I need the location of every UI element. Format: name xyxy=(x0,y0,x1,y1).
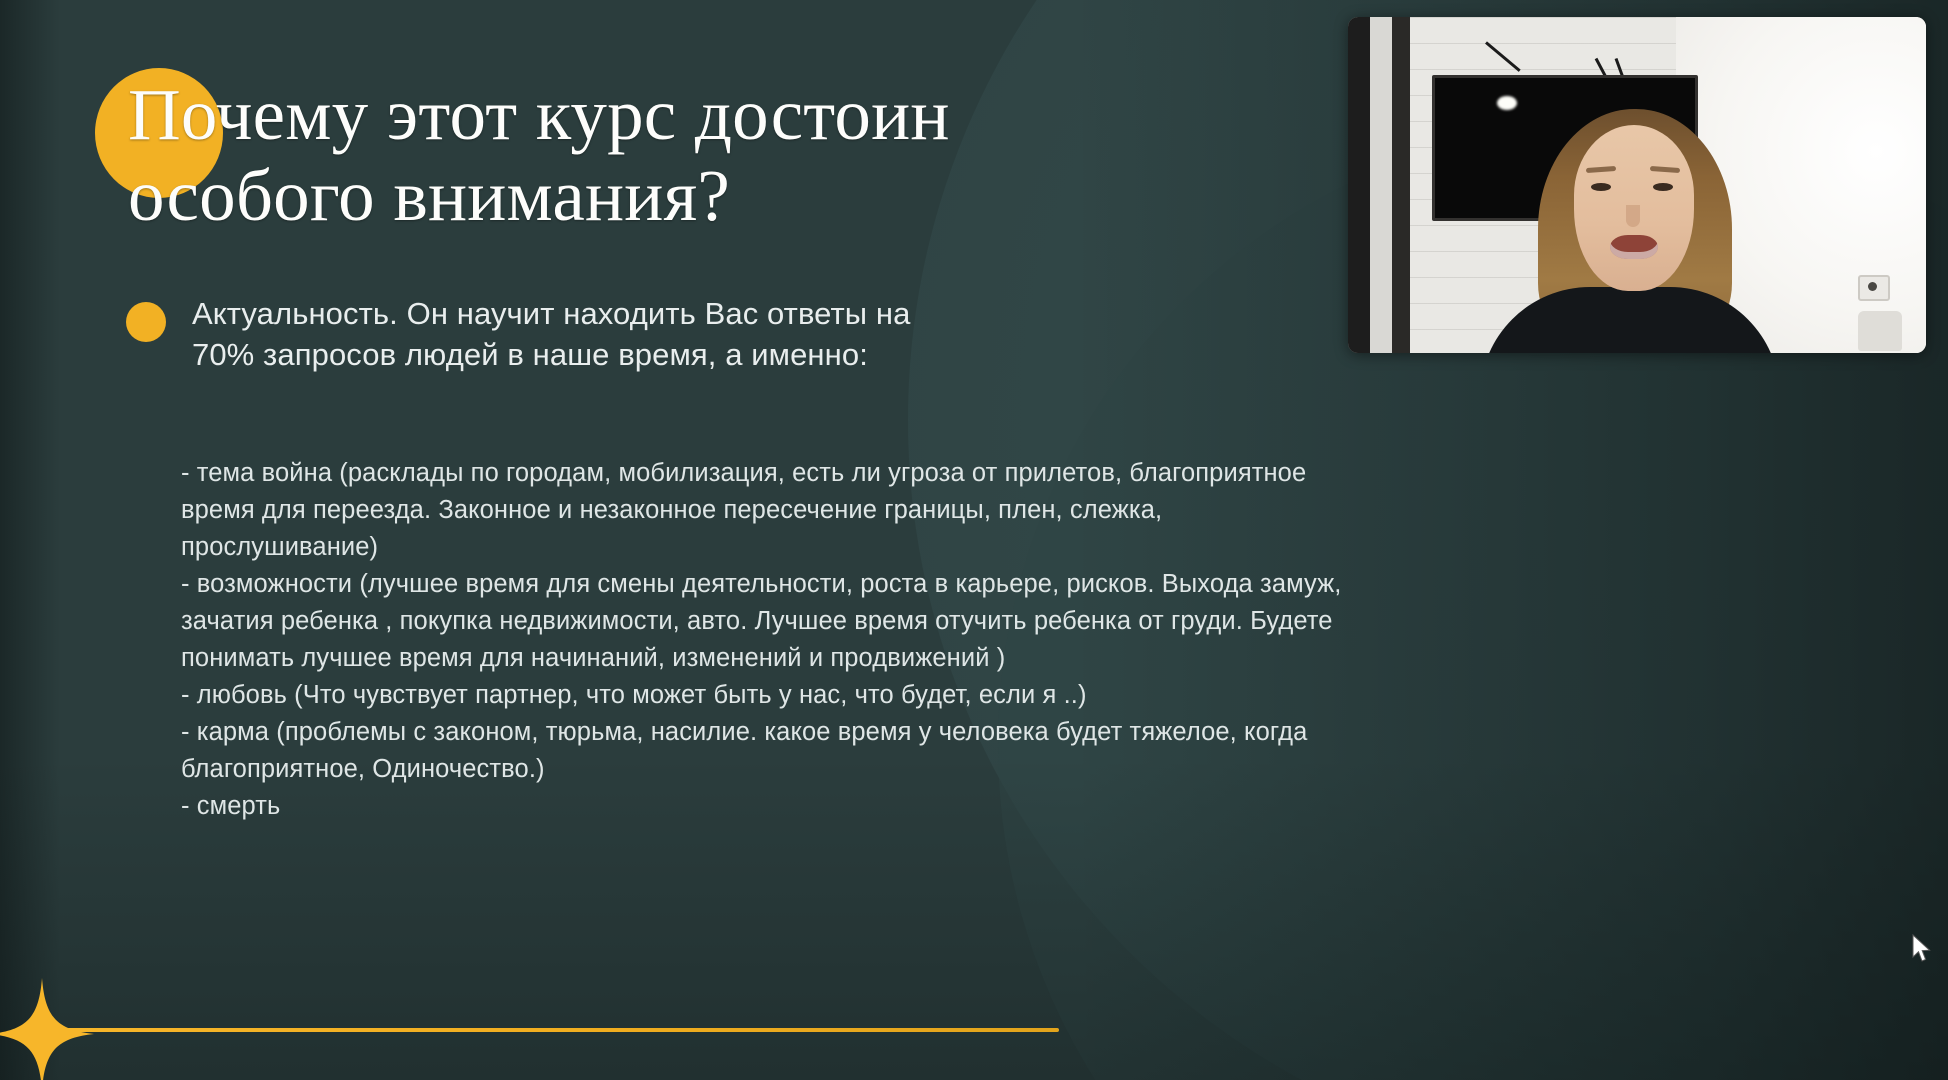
screen-share-view: Почему этот курс достоин особого внимани… xyxy=(0,0,1948,1080)
webcam-person-mouth xyxy=(1610,235,1658,259)
webcam-person-eye xyxy=(1591,183,1611,191)
body-paragraph: - карма (проблемы с законом, тюрьма, нас… xyxy=(181,714,1551,788)
body-paragraph: - возможности (лучшее время для смены де… xyxy=(181,566,1551,677)
lead-bullet-row: Актуальность. Он научит находить Вас отв… xyxy=(126,294,1176,376)
slide-title: Почему этот курс достоин особого внимани… xyxy=(128,74,1248,236)
body-paragraph: - любовь (Что чувствует партнер, что мож… xyxy=(181,677,1551,714)
webcam-person-nose xyxy=(1626,205,1640,227)
lead-bullet-text: Актуальность. Он научит находить Вас отв… xyxy=(192,294,910,376)
webcam-lamp xyxy=(1858,311,1902,351)
webcam-tv-glare xyxy=(1497,96,1517,110)
bullet-circle-icon xyxy=(126,302,166,342)
body-paragraph: - смерть xyxy=(181,788,1551,825)
body-paragraph: - тема война (расклады по городам, мобил… xyxy=(181,455,1551,566)
gold-divider-line xyxy=(57,1028,1059,1032)
webcam-video-tile[interactable] xyxy=(1348,17,1926,353)
slide-body-copy: - тема война (расклады по городам, мобил… xyxy=(181,455,1551,825)
webcam-person-eye xyxy=(1653,183,1673,191)
webcam-wall-outlet xyxy=(1858,275,1890,301)
